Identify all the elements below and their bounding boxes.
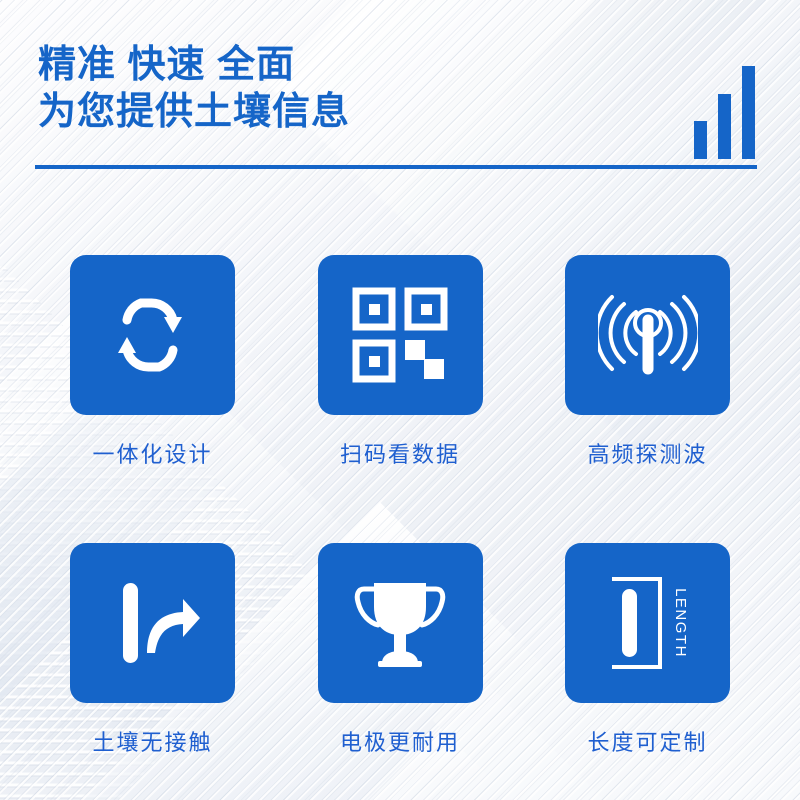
qr-code-icon bbox=[352, 287, 448, 383]
length-measure-icon: LENGTH bbox=[596, 573, 700, 673]
sync-loop-icon bbox=[107, 289, 199, 381]
trophy-icon bbox=[352, 577, 448, 669]
headline-line-2: 为您提供土壤信息 bbox=[38, 89, 350, 136]
signal-antenna-icon bbox=[598, 287, 698, 383]
feature-label: 长度可定制 bbox=[587, 725, 707, 757]
feature-card-high-frequency-wave[interactable]: 高频探测波 bbox=[565, 255, 730, 469]
feature-icon-tile bbox=[70, 255, 235, 415]
feature-icon-tile bbox=[318, 543, 483, 703]
feature-icon-tile: LENGTH bbox=[565, 543, 730, 703]
header: 精准 快速 全面 为您提供土壤信息 bbox=[0, 0, 800, 200]
bar-chart-bar-2 bbox=[718, 94, 731, 159]
feature-grid: 一体化设计 扫码看数据 bbox=[70, 255, 730, 757]
bar-chart-icon bbox=[694, 66, 755, 159]
bar-curved-arrow-icon bbox=[103, 575, 203, 671]
feature-icon-tile bbox=[318, 255, 483, 415]
feature-icon-tile bbox=[565, 255, 730, 415]
feature-label: 一体化设计 bbox=[92, 437, 212, 469]
feature-label: 电极更耐用 bbox=[340, 725, 460, 757]
headline-line-1: 精准 快速 全面 bbox=[38, 44, 295, 86]
feature-label: 土壤无接触 bbox=[92, 725, 212, 757]
bar-chart-bar-3 bbox=[742, 66, 755, 159]
feature-label: 高频探测波 bbox=[587, 437, 707, 469]
feature-card-scan-qr-data[interactable]: 扫码看数据 bbox=[318, 255, 483, 469]
feature-label: 扫码看数据 bbox=[340, 437, 460, 469]
feature-icon-tile bbox=[70, 543, 235, 703]
length-caption: LENGTH bbox=[672, 588, 689, 658]
feature-card-integrated-design[interactable]: 一体化设计 bbox=[70, 255, 235, 469]
page-title: 精准 快速 全面 为您提供土壤信息 bbox=[38, 42, 350, 136]
feature-card-no-soil-contact[interactable]: 土壤无接触 bbox=[70, 543, 235, 757]
feature-card-durable-electrode[interactable]: 电极更耐用 bbox=[318, 543, 483, 757]
header-divider bbox=[35, 165, 757, 169]
bar-chart-bar-1 bbox=[694, 121, 707, 159]
feature-card-customizable-length[interactable]: LENGTH 长度可定制 bbox=[565, 543, 730, 757]
